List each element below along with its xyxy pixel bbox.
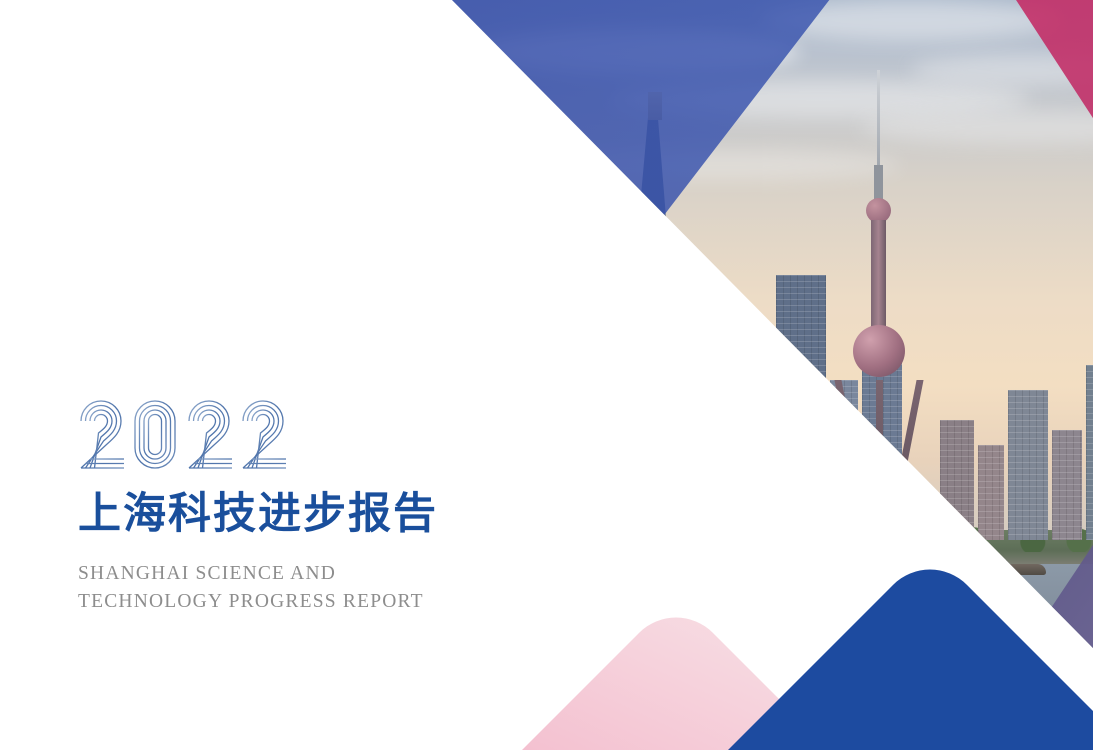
pearl-tower-leg: [834, 380, 872, 540]
cloud-decoration: [760, 0, 1060, 40]
oriental-pearl-tower: [844, 70, 914, 540]
skyline-building: [568, 410, 594, 540]
skyline-building: [524, 290, 564, 540]
pearl-tower-legs: [846, 370, 912, 540]
river-barge: [950, 564, 1046, 575]
skyline-building: [978, 445, 1004, 540]
shanghai-world-financial-center: [548, 220, 584, 540]
swfc-aperture: [558, 242, 580, 258]
subtitle-line-1: SHANGHAI SCIENCE AND: [78, 560, 498, 588]
cloud-decoration: [520, 150, 900, 180]
skyline-building: [1086, 365, 1093, 540]
report-cover-page: 上海科技进步报告 SHANGHAI SCIENCE AND TECHNOLOGY…: [0, 0, 1093, 750]
skyline-building: [1008, 390, 1048, 540]
pearl-tower-shaft: [871, 220, 886, 338]
skyline-building: [742, 395, 772, 540]
report-subtitle-english: SHANGHAI SCIENCE AND TECHNOLOGY PROGRESS…: [78, 560, 498, 617]
subtitle-line-2: TECHNOLOGY PROGRESS REPORT: [78, 588, 498, 616]
skyline-building: [656, 365, 690, 540]
year-2022-graphic: [78, 398, 293, 476]
cloud-decoration: [470, 30, 800, 74]
skyline-building: [940, 420, 974, 540]
skyline-building: [776, 275, 826, 540]
skyline-building: [694, 305, 738, 540]
cover-title-block: 上海科技进步报告 SHANGHAI SCIENCE AND TECHNOLOGY…: [78, 398, 498, 617]
skyline-building: [598, 240, 650, 540]
skyline-building: [1052, 430, 1082, 540]
report-title-chinese: 上海科技进步报告: [78, 490, 498, 538]
shanghai-tower-crown: [648, 92, 662, 120]
pearl-tower-leg: [876, 380, 883, 540]
jin-mao-tower: [590, 290, 614, 540]
